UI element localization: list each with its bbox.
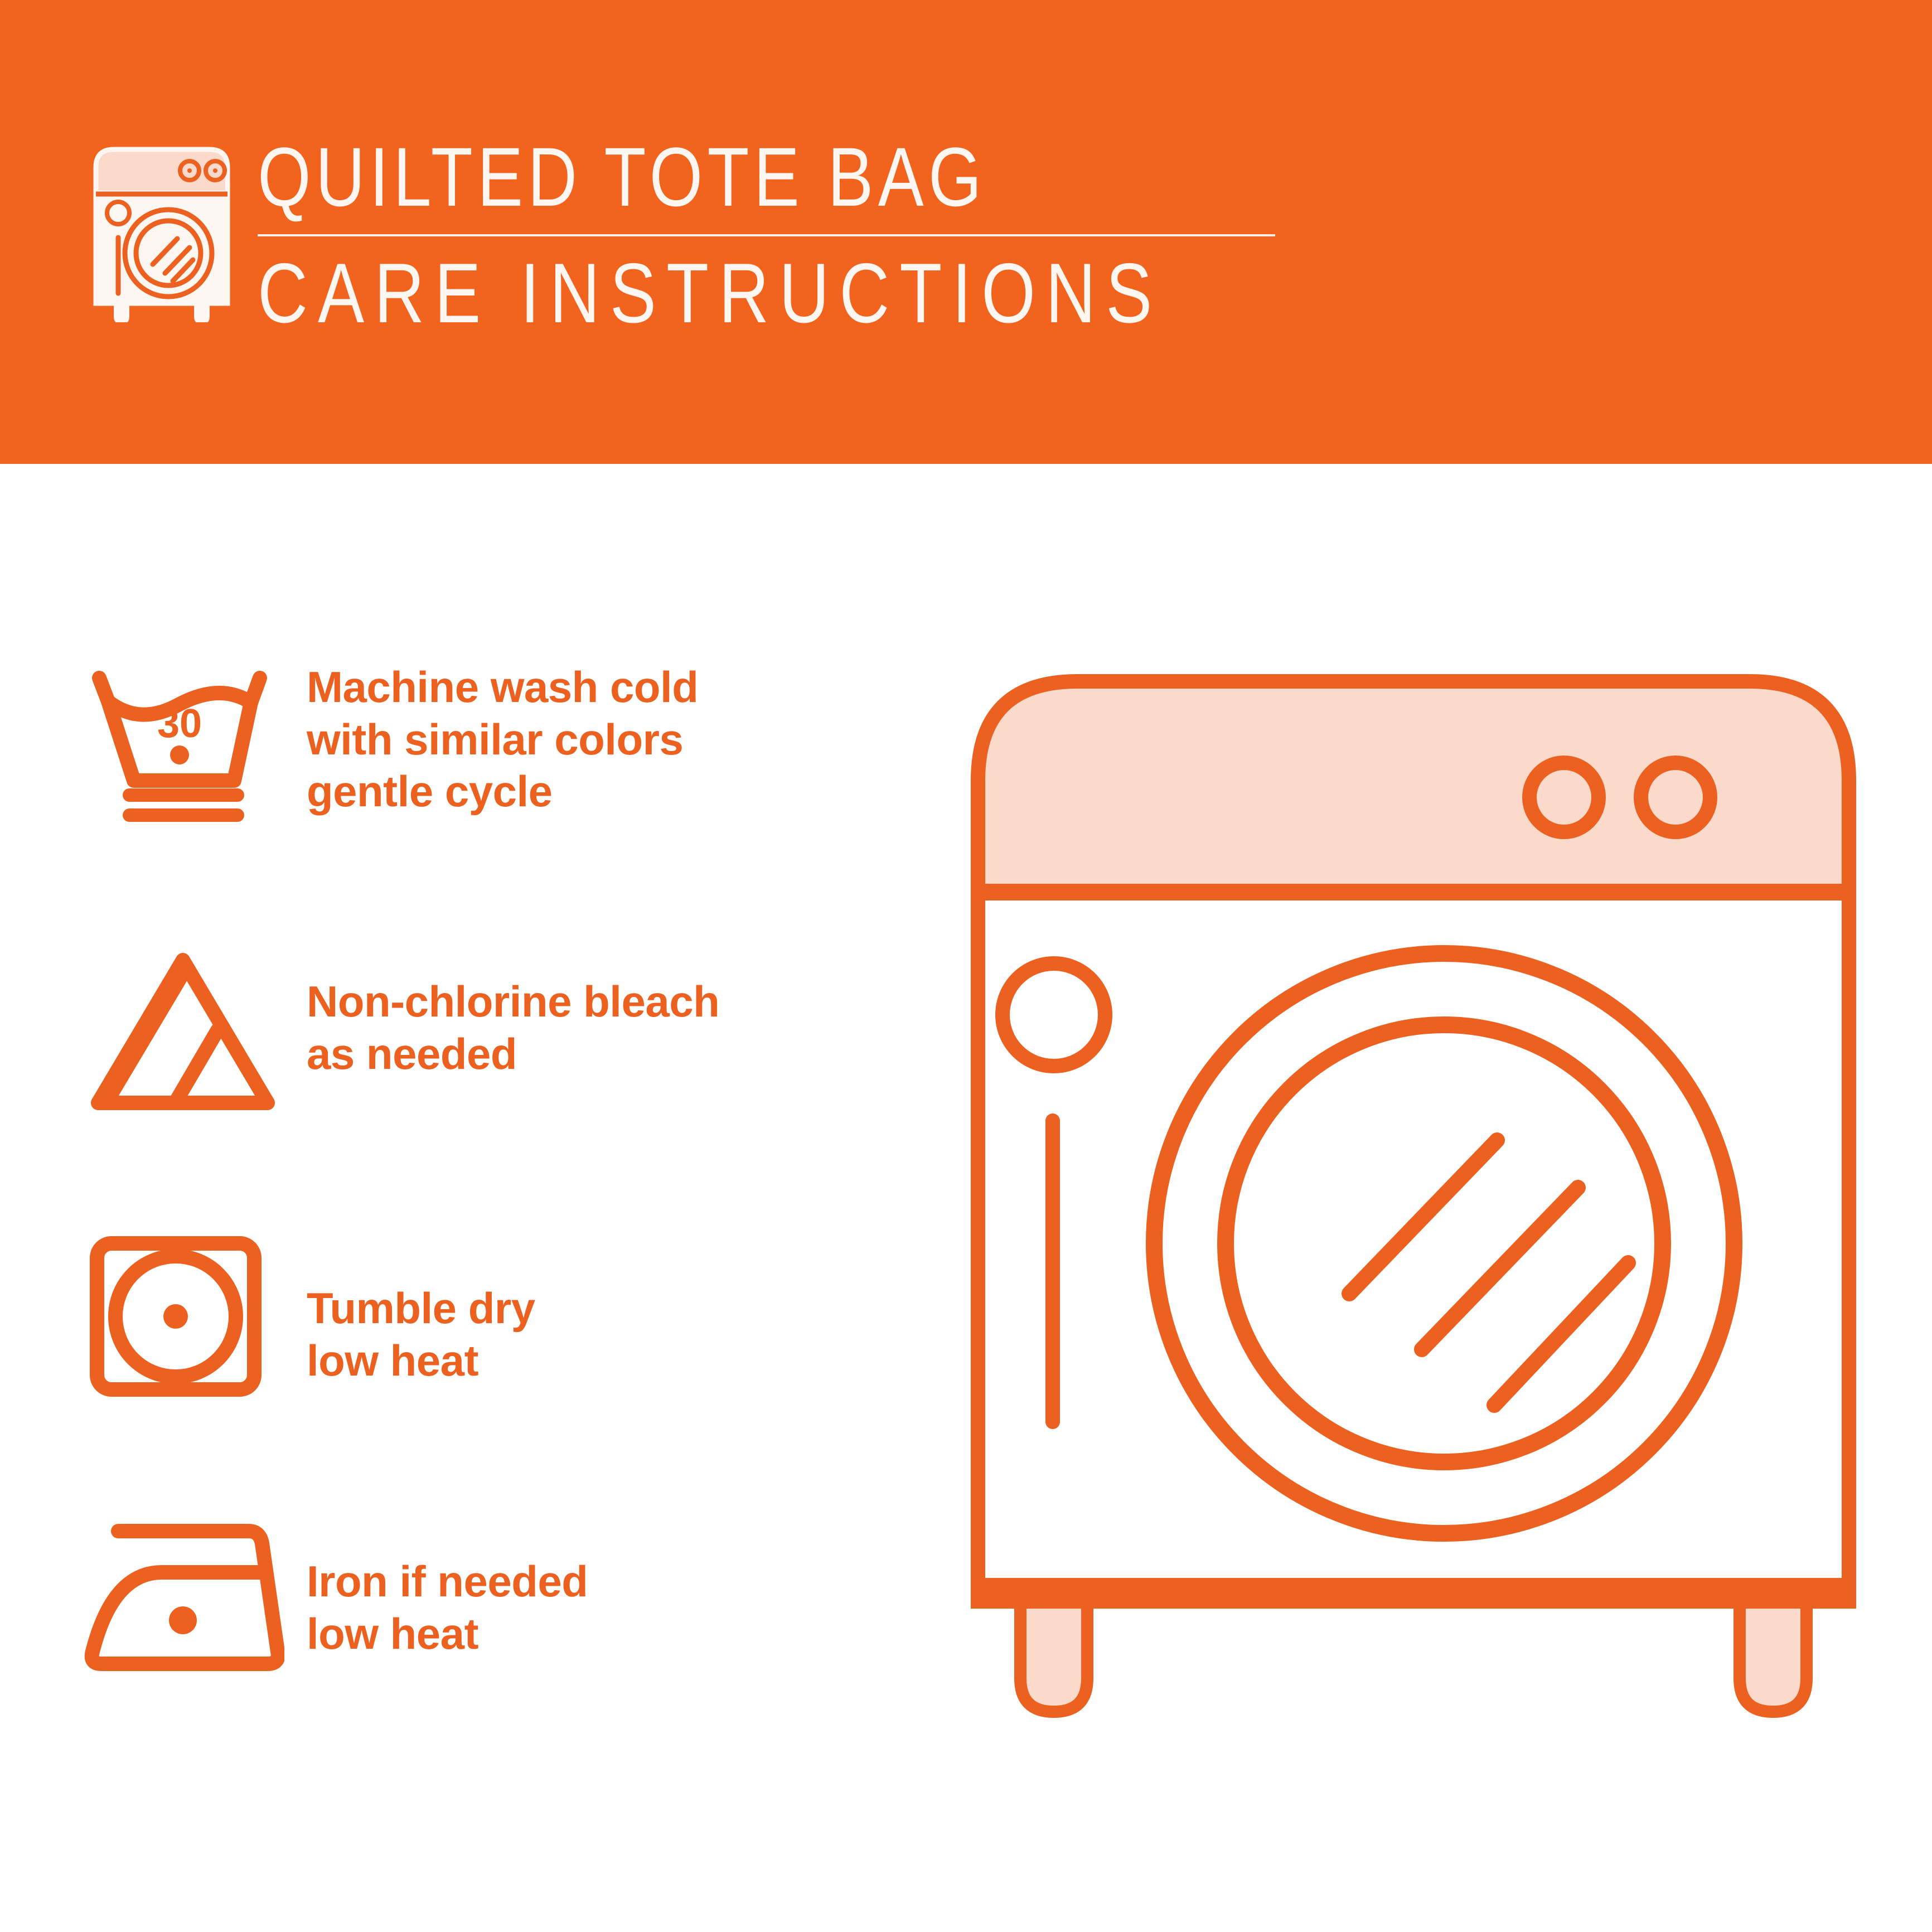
care-line-2: low heat [307, 1335, 953, 1387]
care-line-1: Tumble dry [307, 1282, 953, 1335]
header-banner: QUILTED TOTE BAG CARE INSTRUCTIONS [0, 0, 1932, 464]
front-load-washing-machine-illustration [959, 630, 1896, 1812]
page-subtitle: CARE INSTRUCTIONS [258, 251, 1162, 336]
header-title-block: QUILTED TOTE BAG CARE INSTRUCTIONS [258, 133, 1361, 336]
care-item-machine-wash: 30 Machine wash cold with similar colors… [84, 658, 953, 942]
care-line-1: Iron if needed [307, 1556, 953, 1608]
care-item-label: Non-chlorine bleach as needed [307, 942, 953, 1080]
control-panel [978, 681, 1849, 892]
svg-text:30: 30 [157, 701, 202, 746]
care-instruction-list: 30 Machine wash cold with similar colors… [84, 658, 953, 1795]
care-item-label: Iron if needed low heat [307, 1511, 953, 1660]
care-line-2: low heat [307, 1608, 953, 1660]
care-item-iron: Iron if needed low heat [84, 1511, 953, 1795]
knob-left [1529, 763, 1599, 832]
care-line-3: gentle cycle [307, 766, 953, 818]
title-divider [258, 234, 1275, 236]
page-title: QUILTED TOTE BAG [258, 135, 1162, 219]
care-line-2: as needed [307, 1028, 953, 1081]
care-line-1: Machine wash cold [307, 661, 953, 714]
care-line-1: Non-chlorine bleach [307, 976, 953, 1028]
tumble-dry-low-heat-icon [84, 1227, 307, 1403]
non-chlorine-bleach-triangle-icon [84, 942, 307, 1118]
care-item-label: Machine wash cold with similar colors ge… [307, 658, 953, 818]
washing-machine-logo-icon [84, 133, 240, 322]
header-content: QUILTED TOTE BAG CARE INSTRUCTIONS [84, 133, 1361, 336]
knob-right [1641, 763, 1710, 832]
machine-wash-30-gentle-icon: 30 [84, 658, 307, 829]
iron-low-heat-icon [84, 1511, 307, 1682]
care-item-label: Tumble dry low heat [307, 1227, 953, 1387]
care-item-bleach: Non-chlorine bleach as needed [84, 942, 953, 1227]
care-line-2: with similar colors [307, 714, 953, 766]
care-item-tumble-dry: Tumble dry low heat [84, 1227, 953, 1511]
